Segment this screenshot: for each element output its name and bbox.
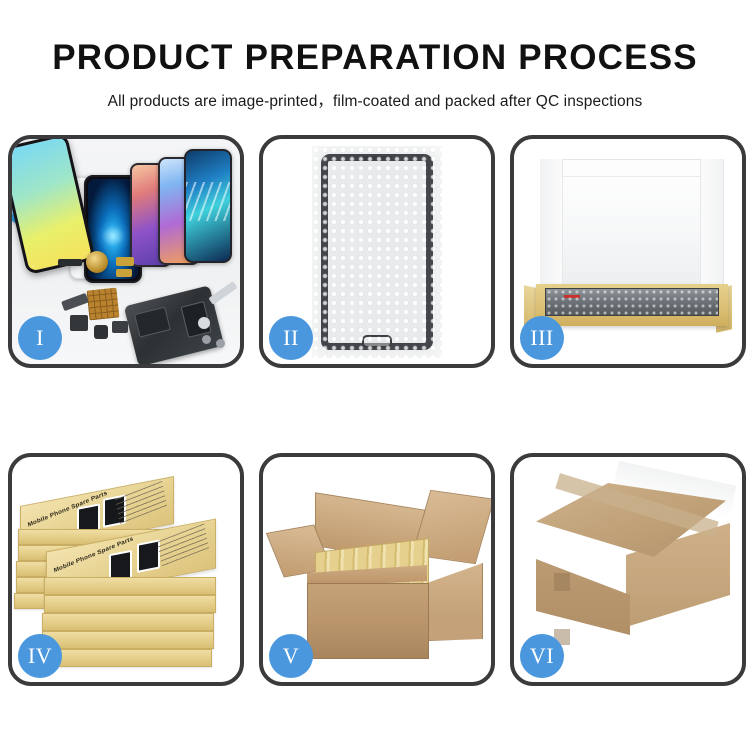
step-panel-4[interactable]: Mobile Phone Spare Parts Mobile Phone Sp…	[8, 453, 244, 686]
retail-box	[40, 649, 212, 667]
process-steps-grid: I II III	[8, 135, 746, 685]
carton-front-face	[307, 583, 429, 659]
small-part	[58, 259, 82, 266]
foam-padding-left	[540, 159, 563, 285]
chip-grid-part	[87, 288, 120, 321]
box-spec-lines	[115, 481, 167, 524]
wrapped-screen	[321, 154, 433, 350]
carton-handle-tab	[554, 573, 570, 591]
page-title: PRODUCT PREPARATION PROCESS	[0, 0, 750, 78]
step-panel-5[interactable]: V	[259, 453, 495, 686]
small-part	[94, 325, 108, 339]
retail-box	[42, 631, 214, 649]
home-button	[362, 335, 392, 348]
step-badge-2: II	[269, 316, 313, 360]
small-part	[116, 257, 134, 266]
step-panel-3[interactable]: III	[510, 135, 746, 368]
small-part	[116, 269, 132, 277]
retail-box	[42, 613, 214, 631]
box-spec-lines	[157, 523, 209, 566]
foam-padding-right	[700, 159, 723, 285]
step-badge-5: V	[269, 634, 313, 678]
small-part	[198, 317, 210, 329]
copper-coil-part	[86, 251, 108, 273]
step-panel-2[interactable]: II	[259, 135, 495, 368]
small-part	[70, 315, 88, 331]
phone-cracked-display	[12, 139, 96, 275]
small-part	[202, 335, 211, 344]
step-panel-1[interactable]: I	[8, 135, 244, 368]
small-part	[216, 339, 225, 348]
small-part	[61, 293, 89, 311]
kraft-box-tray	[536, 284, 728, 326]
retail-box	[44, 595, 216, 613]
wrapped-screen-in-box	[545, 288, 719, 316]
page-subtitle: All products are image-printed，film-coat…	[0, 78, 750, 111]
step-badge-4: IV	[18, 634, 62, 678]
small-part	[208, 281, 237, 305]
phone-screen-blue-wave	[184, 149, 232, 263]
step-badge-3: III	[520, 316, 564, 360]
red-label-mark	[564, 295, 580, 298]
small-part	[112, 321, 128, 333]
step-badge-6: VI	[520, 634, 564, 678]
retail-box	[44, 577, 216, 595]
carton-side-face	[427, 563, 483, 641]
foam-padding-back	[540, 159, 724, 289]
page-header: PRODUCT PREPARATION PROCESS All products…	[0, 0, 750, 111]
step-panel-6[interactable]: VI	[510, 453, 746, 686]
step-badge-1: I	[18, 316, 62, 360]
